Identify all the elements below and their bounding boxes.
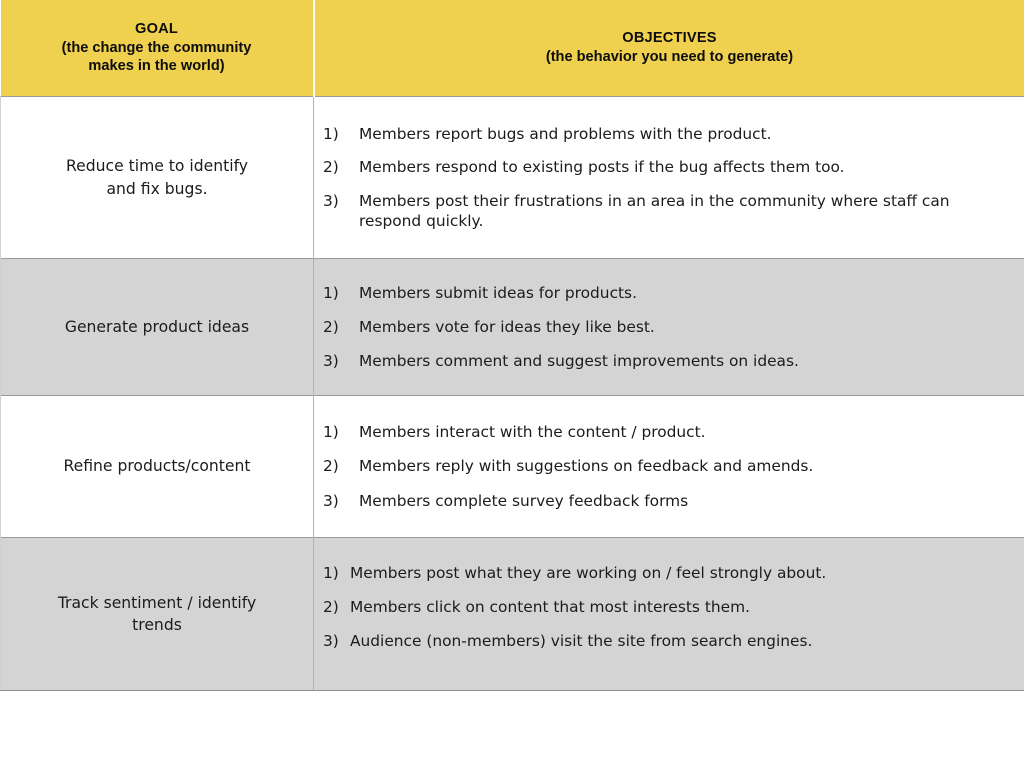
goal-text: Track sentiment / identify trends — [1, 592, 313, 636]
list-item-number: 2) — [323, 456, 359, 476]
objectives-header-title: OBJECTIVES — [325, 29, 1015, 48]
goals-objectives-table: GOAL (the change the community makes in … — [0, 0, 1024, 691]
list-item-number: 1) — [323, 422, 359, 442]
list-item-text: Members reply with suggestions on feedba… — [359, 456, 1015, 476]
goal-cell: Generate product ideas — [1, 259, 314, 396]
table-row: Generate product ideas 1) Members submit… — [1, 259, 1024, 396]
header-row: GOAL (the change the community makes in … — [1, 0, 1024, 97]
list-item-number: 1) — [323, 283, 359, 303]
list-item: 2) Members vote for ideas they like best… — [323, 317, 1015, 337]
list-item: 3) Audience (non-members) visit the site… — [323, 631, 1015, 651]
list-item-number: 2) — [323, 317, 359, 337]
objectives-header-text: OBJECTIVES (the behavior you need to gen… — [315, 29, 1024, 66]
list-item: 3) Members post their frustrations in an… — [323, 191, 1015, 231]
objectives-cell: 1) Members submit ideas for products. 2)… — [314, 259, 1024, 396]
table-row: Refine products/content 1) Members inter… — [1, 396, 1024, 538]
list-item-number: 1) — [323, 563, 350, 583]
list-item-text: Members click on content that most inter… — [350, 597, 1015, 617]
list-item: 1) Members interact with the content / p… — [323, 422, 1015, 442]
goal-text-line1: Generate product ideas — [65, 318, 249, 336]
list-item: 3) Members comment and suggest improveme… — [323, 351, 1015, 371]
objectives-cell: 1) Members interact with the content / p… — [314, 396, 1024, 538]
list-item-number: 2) — [323, 157, 359, 177]
goal-text-line2: and fix bugs. — [106, 180, 207, 198]
document-canvas: GOAL (the change the community makes in … — [0, 0, 1024, 768]
list-item-number: 3) — [323, 491, 359, 511]
list-item-text: Members submit ideas for products. — [359, 283, 1015, 303]
list-item-number: 2) — [323, 597, 350, 617]
goal-text-line2: trends — [132, 616, 182, 634]
table-body: Reduce time to identify and fix bugs. 1)… — [1, 97, 1024, 691]
list-item-text: Audience (non-members) visit the site fr… — [350, 631, 1015, 651]
list-item-text: Members complete survey feedback forms — [359, 491, 1015, 511]
column-header-goal: GOAL (the change the community makes in … — [1, 0, 314, 97]
table-header: GOAL (the change the community makes in … — [1, 0, 1024, 97]
list-item: 1) Members post what they are working on… — [323, 563, 1015, 583]
objectives-list: 1) Members report bugs and problems with… — [314, 124, 1024, 230]
list-item-text: Members report bugs and problems with th… — [359, 124, 1015, 144]
list-item: 2) Members click on content that most in… — [323, 597, 1015, 617]
goal-text: Generate product ideas — [1, 316, 313, 338]
list-item-text: Members vote for ideas they like best. — [359, 317, 1015, 337]
list-item-text: Members post their frustrations in an ar… — [359, 191, 1015, 231]
list-item: 3) Members complete survey feedback form… — [323, 491, 1015, 511]
list-item-number: 3) — [323, 191, 359, 211]
list-item: 2) Members respond to existing posts if … — [323, 157, 1015, 177]
list-item-text: Members interact with the content / prod… — [359, 422, 1015, 442]
goal-text-line1: Refine products/content — [63, 457, 250, 475]
goal-cell: Track sentiment / identify trends — [1, 538, 314, 691]
goal-header-subtitle-line2: makes in the world) — [11, 57, 303, 76]
goal-cell: Refine products/content — [1, 396, 314, 538]
goal-text-line1: Reduce time to identify — [66, 157, 248, 175]
list-item: 1) Members report bugs and problems with… — [323, 124, 1015, 144]
list-item-number: 3) — [323, 631, 350, 651]
objectives-list: 1) Members post what they are working on… — [314, 563, 1024, 651]
goal-text: Reduce time to identify and fix bugs. — [1, 155, 313, 199]
objectives-cell: 1) Members post what they are working on… — [314, 538, 1024, 691]
goal-text: Refine products/content — [1, 455, 313, 477]
goal-header-subtitle-line1: (the change the community — [11, 39, 303, 58]
list-item-text: Members post what they are working on / … — [350, 563, 1015, 583]
goal-header-text: GOAL (the change the community makes in … — [1, 20, 313, 76]
column-header-objectives: OBJECTIVES (the behavior you need to gen… — [314, 0, 1024, 97]
objectives-header-subtitle: (the behavior you need to generate) — [325, 48, 1015, 67]
list-item-text: Members respond to existing posts if the… — [359, 157, 1015, 177]
objectives-list: 1) Members interact with the content / p… — [314, 422, 1024, 510]
goal-cell: Reduce time to identify and fix bugs. — [1, 97, 314, 259]
goal-header-title: GOAL — [11, 20, 303, 39]
objectives-list: 1) Members submit ideas for products. 2)… — [314, 283, 1024, 371]
table-row: Reduce time to identify and fix bugs. 1)… — [1, 97, 1024, 259]
goal-text-line1: Track sentiment / identify — [58, 594, 256, 612]
list-item-number: 1) — [323, 124, 359, 144]
list-item-number: 3) — [323, 351, 359, 371]
list-item-text: Members comment and suggest improvements… — [359, 351, 1015, 371]
list-item: 2) Members reply with suggestions on fee… — [323, 456, 1015, 476]
objectives-cell: 1) Members report bugs and problems with… — [314, 97, 1024, 259]
table-row: Track sentiment / identify trends 1) Mem… — [1, 538, 1024, 691]
list-item: 1) Members submit ideas for products. — [323, 283, 1015, 303]
